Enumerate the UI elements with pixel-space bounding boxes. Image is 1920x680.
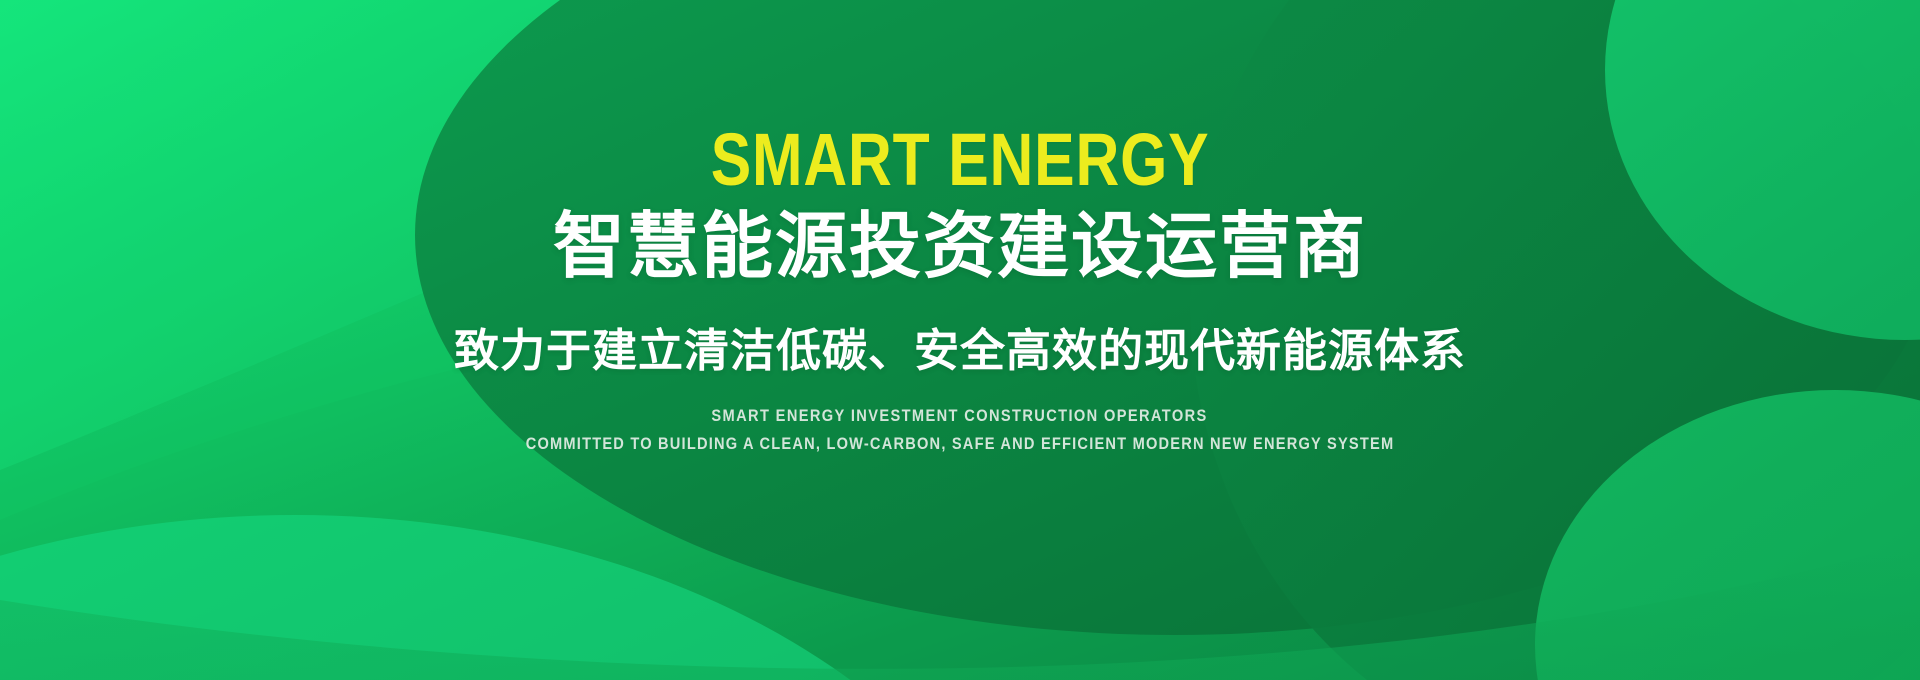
smart-energy-banner: SMART ENERGY 智慧能源投资建设运营商 致力于建立清洁低碳、安全高效的… xyxy=(0,0,1920,680)
banner-subtitle-chinese: 致力于建立清洁低碳、安全高效的现代新能源体系 xyxy=(454,326,1466,376)
banner-caption-english-primary: SMART ENERGY INVESTMENT CONSTRUCTION OPE… xyxy=(712,406,1208,426)
banner-title-chinese: 智慧能源投资建设运营商 xyxy=(553,209,1367,287)
banner-content: SMART ENERGY 智慧能源投资建设运营商 致力于建立清洁低碳、安全高效的… xyxy=(0,0,1920,680)
banner-caption-english-secondary: COMMITTED TO BUILDING A CLEAN, LOW-CARBO… xyxy=(526,434,1395,454)
banner-title-english: SMART ENERGY xyxy=(711,124,1210,197)
